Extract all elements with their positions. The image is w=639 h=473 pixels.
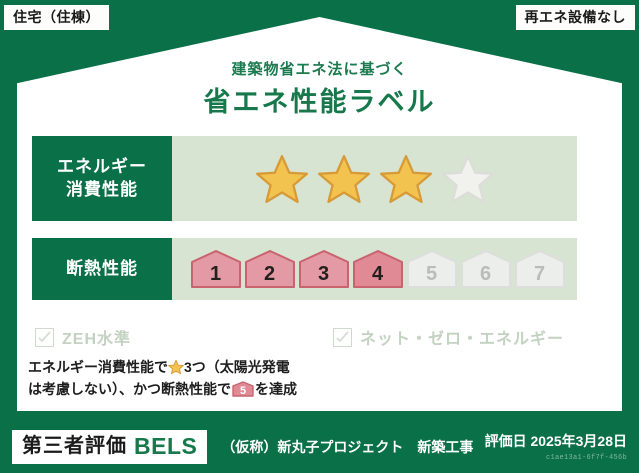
renewable-energy-tag: 再エネ設備なし xyxy=(516,5,636,30)
insulation-level-chip: 1 xyxy=(190,249,242,289)
energy-label-line1: エネルギー xyxy=(57,156,147,178)
footer-bar: 第三者評価 BELS （仮称）新丸子プロジェクト 新築工事 評価日 2025年3… xyxy=(0,420,639,473)
energy-label-line2: 消費性能 xyxy=(66,179,138,201)
insulation-level-chip-achieved: 4 xyxy=(352,249,404,289)
energy-star-rating xyxy=(172,136,577,221)
criteria-text-part4: を達成 xyxy=(255,381,297,397)
insulation-level-value: 2 xyxy=(264,264,275,289)
star-empty-icon xyxy=(441,153,495,205)
insulation-performance-row: 断熱性能 1 2 3 4 5 xyxy=(32,238,577,300)
label-title: 省エネ性能ラベル xyxy=(0,80,639,119)
star-filled-icon xyxy=(379,153,433,205)
insulation-level-value: 6 xyxy=(480,264,491,289)
insulation-level-chip: 6 xyxy=(460,249,512,289)
checkmark-icon xyxy=(35,328,54,347)
criteria-description: エネルギー消費性能で 3つ（太陽光発電は考慮しない）、かつ断熱性能で 5 を達成 xyxy=(28,357,358,400)
mini-chip-value: 5 xyxy=(232,385,254,397)
insulation-level-value: 5 xyxy=(426,264,437,289)
bels-en-text: BELS xyxy=(134,435,197,458)
net-zero-energy-check: ネット・ゼロ・エネルギー xyxy=(333,325,564,349)
net-zero-energy-label: ネット・ゼロ・エネルギー xyxy=(360,325,564,349)
criteria-text-part3: は考慮しない）、かつ断熱性能で xyxy=(28,381,231,397)
star-filled-icon xyxy=(317,153,371,205)
insulation-level-chip: 7 xyxy=(514,249,566,289)
star-filled-icon xyxy=(255,153,309,205)
bels-jp-text: 第三者評価 xyxy=(22,436,127,456)
project-name: （仮称）新丸子プロジェクト 新築工事 xyxy=(221,437,473,457)
energy-performance-label-block: エネルギー 消費性能 xyxy=(32,136,172,221)
mini-star-icon xyxy=(168,359,184,375)
insulation-level-value: 3 xyxy=(318,264,329,289)
insulation-level-value: 4 xyxy=(372,264,383,289)
insulation-level-chip: 5 xyxy=(406,249,458,289)
criteria-text-part2: 3つ（太陽光発電 xyxy=(184,359,290,375)
zeh-standard-label: ZEH水準 xyxy=(62,325,131,349)
label-subtitle: 建築物省エネ法に基づく xyxy=(0,58,639,79)
criteria-text-part1: エネルギー消費性能で xyxy=(28,359,168,375)
insulation-level-value: 7 xyxy=(534,264,545,289)
insulation-level-chip: 3 xyxy=(298,249,350,289)
insulation-level-value: 1 xyxy=(210,264,221,289)
insulation-performance-label-block: 断熱性能 xyxy=(32,238,172,300)
evaluation-date: 評価日 2025年3月28日 xyxy=(485,431,627,451)
evaluation-date-label: 評価日 xyxy=(485,433,527,449)
bels-badge: 第三者評価 BELS xyxy=(12,430,207,464)
building-type-tag: 住宅（住棟） xyxy=(4,5,109,30)
zeh-standard-check: ZEH水準 xyxy=(35,325,131,349)
evaluation-date-block: 評価日 2025年3月28日 c1ae13a1-6f7f-456b xyxy=(485,431,627,462)
label-code: c1ae13a1-6f7f-456b xyxy=(485,454,627,462)
insulation-label-text: 断熱性能 xyxy=(66,258,138,280)
mini-insulation-chip-icon: 5 xyxy=(232,381,254,397)
energy-performance-label: 住宅（住棟） 再エネ設備なし 建築物省エネ法に基づく 省エネ性能ラベル エネルギ… xyxy=(0,0,639,473)
checkmark-icon xyxy=(333,328,352,347)
insulation-level-chip: 2 xyxy=(244,249,296,289)
energy-performance-row: エネルギー 消費性能 xyxy=(32,136,577,221)
evaluation-date-value: 2025年3月28日 xyxy=(530,433,627,449)
insulation-level-scale: 1 2 3 4 5 6 7 xyxy=(172,238,577,300)
